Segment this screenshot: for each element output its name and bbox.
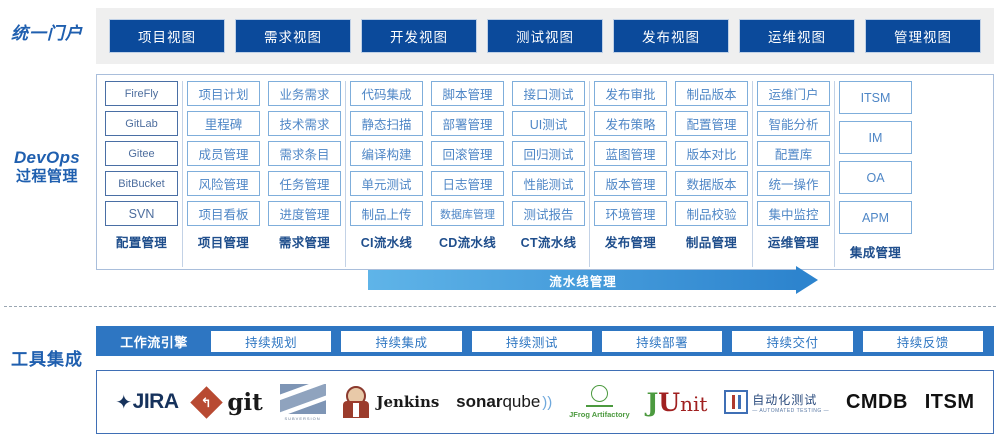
- portal-view-button[interactable]: 运维视图: [739, 19, 855, 53]
- devops-column: FireFlyGitLabGiteeBitBucketSVN配置管理: [101, 81, 182, 267]
- devops-capability-cell[interactable]: 里程碑: [187, 111, 260, 136]
- devops-capability-cell[interactable]: 数据库管理: [431, 201, 504, 226]
- devops-capability-cell[interactable]: 统一操作: [757, 171, 830, 196]
- devops-capability-cell[interactable]: SVN: [105, 201, 178, 226]
- devops-column: 脚本管理部署管理回滚管理日志管理数据库管理CD流水线: [427, 81, 508, 267]
- devops-capability-cell[interactable]: UI测试: [512, 111, 585, 136]
- tool-logo-strip: ✦JIRA↰gitSUBVERSIONJenkinssonarqube))JFr…: [96, 370, 994, 434]
- devops-capability-cell[interactable]: 日志管理: [431, 171, 504, 196]
- devops-column-title: 制品管理: [686, 232, 737, 251]
- devops-capability-cell[interactable]: ITSM: [839, 81, 912, 114]
- workflow-stage-item[interactable]: 持续测试: [472, 331, 592, 352]
- rail-label-devops-cn: 过程管理: [0, 168, 94, 185]
- tool-logo-cmdb: CMDB: [846, 380, 908, 424]
- devops-column-group: ITSMIMOAAPM集成管理: [834, 81, 916, 267]
- rail-label-devops: DevOps 过程管理: [0, 148, 94, 185]
- automated-testing-icon: [724, 390, 748, 414]
- devops-column-title: CT流水线: [521, 232, 577, 251]
- sonarqube-swoosh-icon: )): [542, 394, 552, 411]
- pipeline-arrow-head: [796, 266, 818, 294]
- devops-capability-cell[interactable]: 版本管理: [594, 171, 667, 196]
- devops-column-title: CI流水线: [361, 232, 413, 251]
- devops-capability-cell[interactable]: 回归测试: [512, 141, 585, 166]
- devops-capability-cell[interactable]: APM: [839, 201, 912, 234]
- devops-capability-cell[interactable]: 数据版本: [675, 171, 748, 196]
- devops-column-title: 需求管理: [279, 232, 330, 251]
- workflow-stage-item[interactable]: 持续反馈: [863, 331, 983, 352]
- pipeline-arrow-bar: 流水线管理: [368, 270, 798, 290]
- devops-capability-cell[interactable]: 版本对比: [675, 141, 748, 166]
- devops-column-title: 项目管理: [198, 232, 249, 251]
- devops-capability-cell[interactable]: 制品版本: [675, 81, 748, 106]
- devops-capability-cell[interactable]: 业务需求: [268, 81, 341, 106]
- devops-column-group: 代码集成静态扫描编译构建单元测试制品上传CI流水线脚本管理部署管理回滚管理日志管…: [345, 81, 589, 267]
- devops-column-group: FireFlyGitLabGiteeBitBucketSVN配置管理: [101, 81, 182, 267]
- devops-column: 运维门户智能分析配置库统一操作集中监控运维管理: [753, 81, 834, 267]
- workflow-stage-item[interactable]: 持续部署: [602, 331, 722, 352]
- portal-view-button[interactable]: 管理视图: [865, 19, 981, 53]
- devops-column-title: 发布管理: [605, 232, 656, 251]
- subversion-mark-icon: [280, 384, 326, 414]
- devops-capability-cell[interactable]: 运维门户: [757, 81, 830, 106]
- devops-capability-cell[interactable]: 制品上传: [350, 201, 423, 226]
- devops-capability-cell[interactable]: 部署管理: [431, 111, 504, 136]
- tool-logo-jira: ✦JIRA: [115, 380, 178, 424]
- devops-capability-cell[interactable]: 静态扫描: [350, 111, 423, 136]
- portal-view-button[interactable]: 需求视图: [235, 19, 351, 53]
- tool-logo-sonarqube: sonarqube)): [456, 380, 552, 424]
- tool-logo-svn: SUBVERSION: [280, 380, 326, 424]
- devops-capability-cell[interactable]: 发布策略: [594, 111, 667, 136]
- jfrog-ring-icon: [591, 385, 608, 402]
- portal-view-button[interactable]: 开发视图: [361, 19, 477, 53]
- devops-capability-cell[interactable]: 技术需求: [268, 111, 341, 136]
- devops-capability-cell[interactable]: 接口测试: [512, 81, 585, 106]
- devops-capability-cell[interactable]: FireFly: [105, 81, 178, 106]
- devops-capability-cell[interactable]: 测试报告: [512, 201, 585, 226]
- devops-capability-cell[interactable]: 编译构建: [350, 141, 423, 166]
- devops-column-title: 配置管理: [116, 232, 167, 251]
- portal-view-button[interactable]: 发布视图: [613, 19, 729, 53]
- devops-capability-cell[interactable]: 环境管理: [594, 201, 667, 226]
- devops-capability-cell[interactable]: 配置库: [757, 141, 830, 166]
- devops-column: ITSMIMOAAPM集成管理: [835, 81, 916, 267]
- devops-column-title: 运维管理: [768, 232, 819, 251]
- devops-column-title: CD流水线: [439, 232, 496, 251]
- tool-logo-git: ↰git: [195, 380, 262, 424]
- portal-view-button[interactable]: 测试视图: [487, 19, 603, 53]
- git-diamond-icon: ↰: [191, 386, 224, 419]
- devops-column: 项目计划里程碑成员管理风险管理项目看板项目管理: [183, 81, 264, 267]
- devops-capability-cell[interactable]: 进度管理: [268, 201, 341, 226]
- devops-column-group: 运维门户智能分析配置库统一操作集中监控运维管理: [752, 81, 834, 267]
- devops-capability-cell[interactable]: IM: [839, 121, 912, 154]
- jira-mark-icon: ✦: [115, 390, 131, 415]
- devops-process-panel: FireFlyGitLabGiteeBitBucketSVN配置管理项目计划里程…: [96, 74, 994, 270]
- pipeline-arrow: 流水线管理: [368, 270, 818, 290]
- rail-label-portal: 统一门户: [0, 24, 94, 44]
- devops-capability-cell[interactable]: 代码集成: [350, 81, 423, 106]
- devops-column: 代码集成静态扫描编译构建单元测试制品上传CI流水线: [346, 81, 427, 267]
- portal-view-button[interactable]: 项目视图: [109, 19, 225, 53]
- devops-column: 发布审批发布策略蓝图管理版本管理环境管理发布管理: [590, 81, 671, 267]
- tool-logo-junit: JUnit: [646, 380, 707, 424]
- tool-logo-jfrog: JFrog Artifactory: [569, 380, 630, 424]
- rail-label-devops-en: DevOps: [0, 148, 94, 168]
- devops-capability-cell[interactable]: 成员管理: [187, 141, 260, 166]
- devops-capability-cell[interactable]: 项目看板: [187, 201, 260, 226]
- workflow-engine-title: 工作流引擎: [102, 332, 206, 351]
- tool-logo-automated: 自动化测试— AUTOMATED TESTING —: [724, 380, 829, 424]
- devops-column: 业务需求技术需求需求条目任务管理进度管理需求管理: [264, 81, 345, 267]
- devops-capability-cell[interactable]: 智能分析: [757, 111, 830, 136]
- devops-capability-cell[interactable]: OA: [839, 161, 912, 194]
- devops-column: 接口测试UI测试回归测试性能测试测试报告CT流水线: [508, 81, 589, 267]
- pipeline-arrow-label: 流水线管理: [549, 271, 617, 290]
- devops-capability-cell[interactable]: 蓝图管理: [594, 141, 667, 166]
- devops-column-group: 发布审批发布策略蓝图管理版本管理环境管理发布管理制品版本配置管理版本对比数据版本…: [589, 81, 752, 267]
- workflow-engine-bar: 工作流引擎持续规划持续集成持续测试持续部署持续交付持续反馈: [96, 326, 994, 356]
- devops-capability-cell[interactable]: 风险管理: [187, 171, 260, 196]
- devops-platform-diagram: 统一门户 DevOps 过程管理 工具集成 项目视图需求视图开发视图测试视图发布…: [0, 0, 1000, 439]
- devops-capability-cell[interactable]: 脚本管理: [431, 81, 504, 106]
- devops-column-group: 项目计划里程碑成员管理风险管理项目看板项目管理业务需求技术需求需求条目任务管理进…: [182, 81, 345, 267]
- devops-capability-cell[interactable]: 集中监控: [757, 201, 830, 226]
- workflow-stage-item[interactable]: 持续规划: [211, 331, 331, 352]
- jenkins-butler-icon: [342, 386, 370, 418]
- devops-capability-cell[interactable]: 配置管理: [675, 111, 748, 136]
- devops-capability-cell[interactable]: 回滚管理: [431, 141, 504, 166]
- devops-capability-cell[interactable]: 项目计划: [187, 81, 260, 106]
- tool-logo-itsm: ITSM: [925, 380, 975, 424]
- devops-column: 制品版本配置管理版本对比数据版本制品校验制品管理: [671, 81, 752, 267]
- workflow-stage-item[interactable]: 持续交付: [732, 331, 852, 352]
- rail-label-tools: 工具集成: [0, 350, 94, 370]
- devops-capability-cell[interactable]: 单元测试: [350, 171, 423, 196]
- devops-capability-cell[interactable]: 制品校验: [675, 201, 748, 226]
- devops-capability-cell[interactable]: 性能测试: [512, 171, 585, 196]
- devops-capability-cell[interactable]: GitLab: [105, 111, 178, 136]
- devops-capability-cell[interactable]: 需求条目: [268, 141, 341, 166]
- devops-capability-cell[interactable]: BitBucket: [105, 171, 178, 196]
- devops-capability-cell[interactable]: Gitee: [105, 141, 178, 166]
- workflow-stage-item[interactable]: 持续集成: [341, 331, 461, 352]
- devops-capability-cell[interactable]: 任务管理: [268, 171, 341, 196]
- portal-button-bar: 项目视图需求视图开发视图测试视图发布视图运维视图管理视图: [96, 8, 994, 64]
- devops-column-title: 集成管理: [850, 242, 901, 261]
- tool-logo-jenkins: Jenkins: [342, 380, 439, 424]
- section-divider: [4, 306, 996, 307]
- devops-capability-cell[interactable]: 发布审批: [594, 81, 667, 106]
